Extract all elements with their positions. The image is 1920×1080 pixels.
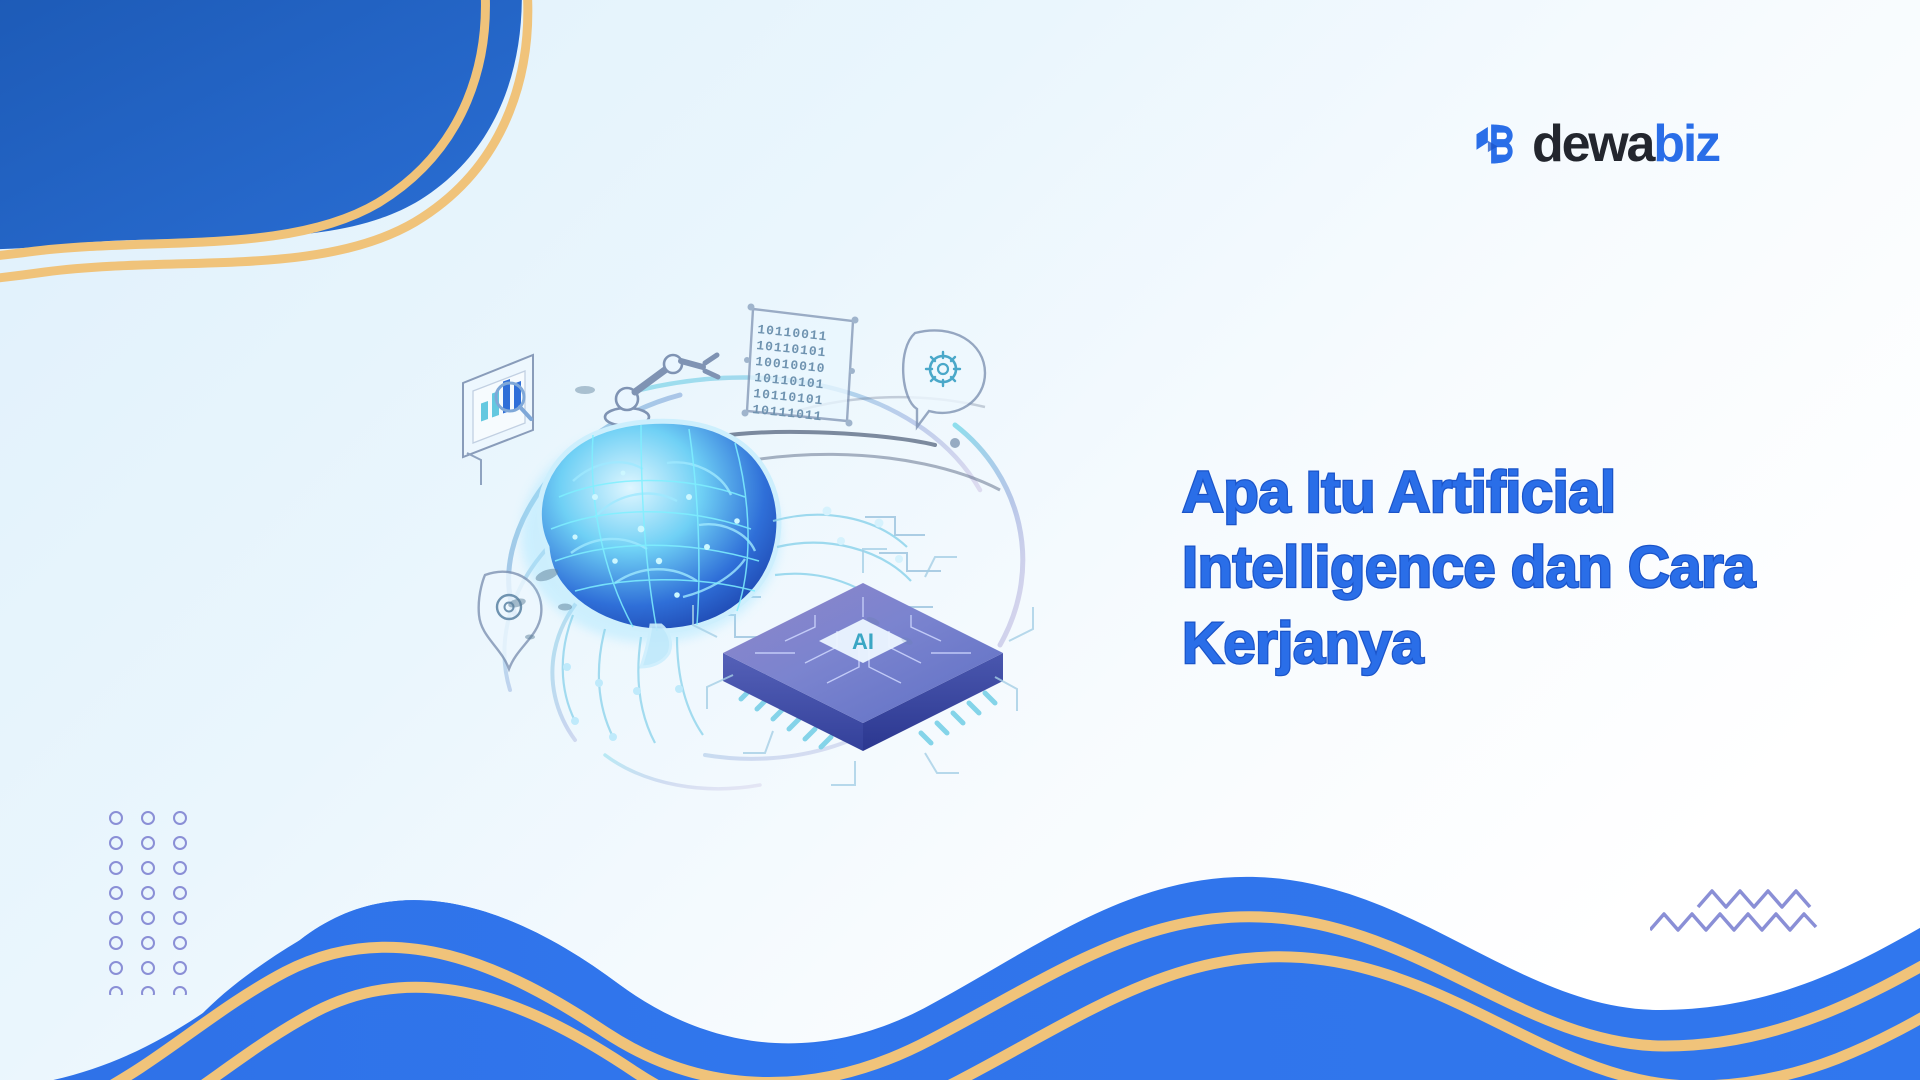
chip-ai-label: AI [852, 629, 874, 654]
gear-thought-bubble [903, 330, 985, 427]
brand-logo[interactable]: dewabiz [1470, 118, 1719, 170]
ai-brain-chip-illustration: 10110011 10110101 10010010 10110101 1011… [455, 285, 1095, 815]
zigzag-lines [1650, 885, 1850, 945]
poster-canvas: dewabiz [0, 0, 1920, 1080]
title-line-2: Intelligence dan Cara [1182, 530, 1902, 605]
zigzag-line-lower [1650, 914, 1816, 930]
robot-arm [605, 355, 718, 426]
robot-arm-shadow [575, 386, 595, 394]
dot-grid [108, 810, 188, 995]
title-line-3: Kerjanya [1182, 606, 1902, 681]
brand-name-primary: dewa [1532, 115, 1653, 173]
brand-wordmark: dewabiz [1532, 118, 1719, 170]
glowing-brain [539, 421, 779, 667]
title-line-1: Apa Itu Artificial [1182, 455, 1902, 530]
zigzag-line-upper [1698, 891, 1810, 907]
dewabiz-cube-icon [1470, 118, 1522, 170]
page-title: Apa Itu Artificial Intelligence dan Cara… [1182, 455, 1902, 681]
analytics-dashboard-screen [463, 355, 533, 485]
location-pin-gear [479, 572, 542, 669]
tendril-nodes [563, 663, 683, 741]
top-left-blob [0, 0, 522, 249]
ai-microchip: AI [723, 583, 1003, 751]
brand-name-accent: biz [1653, 115, 1719, 173]
